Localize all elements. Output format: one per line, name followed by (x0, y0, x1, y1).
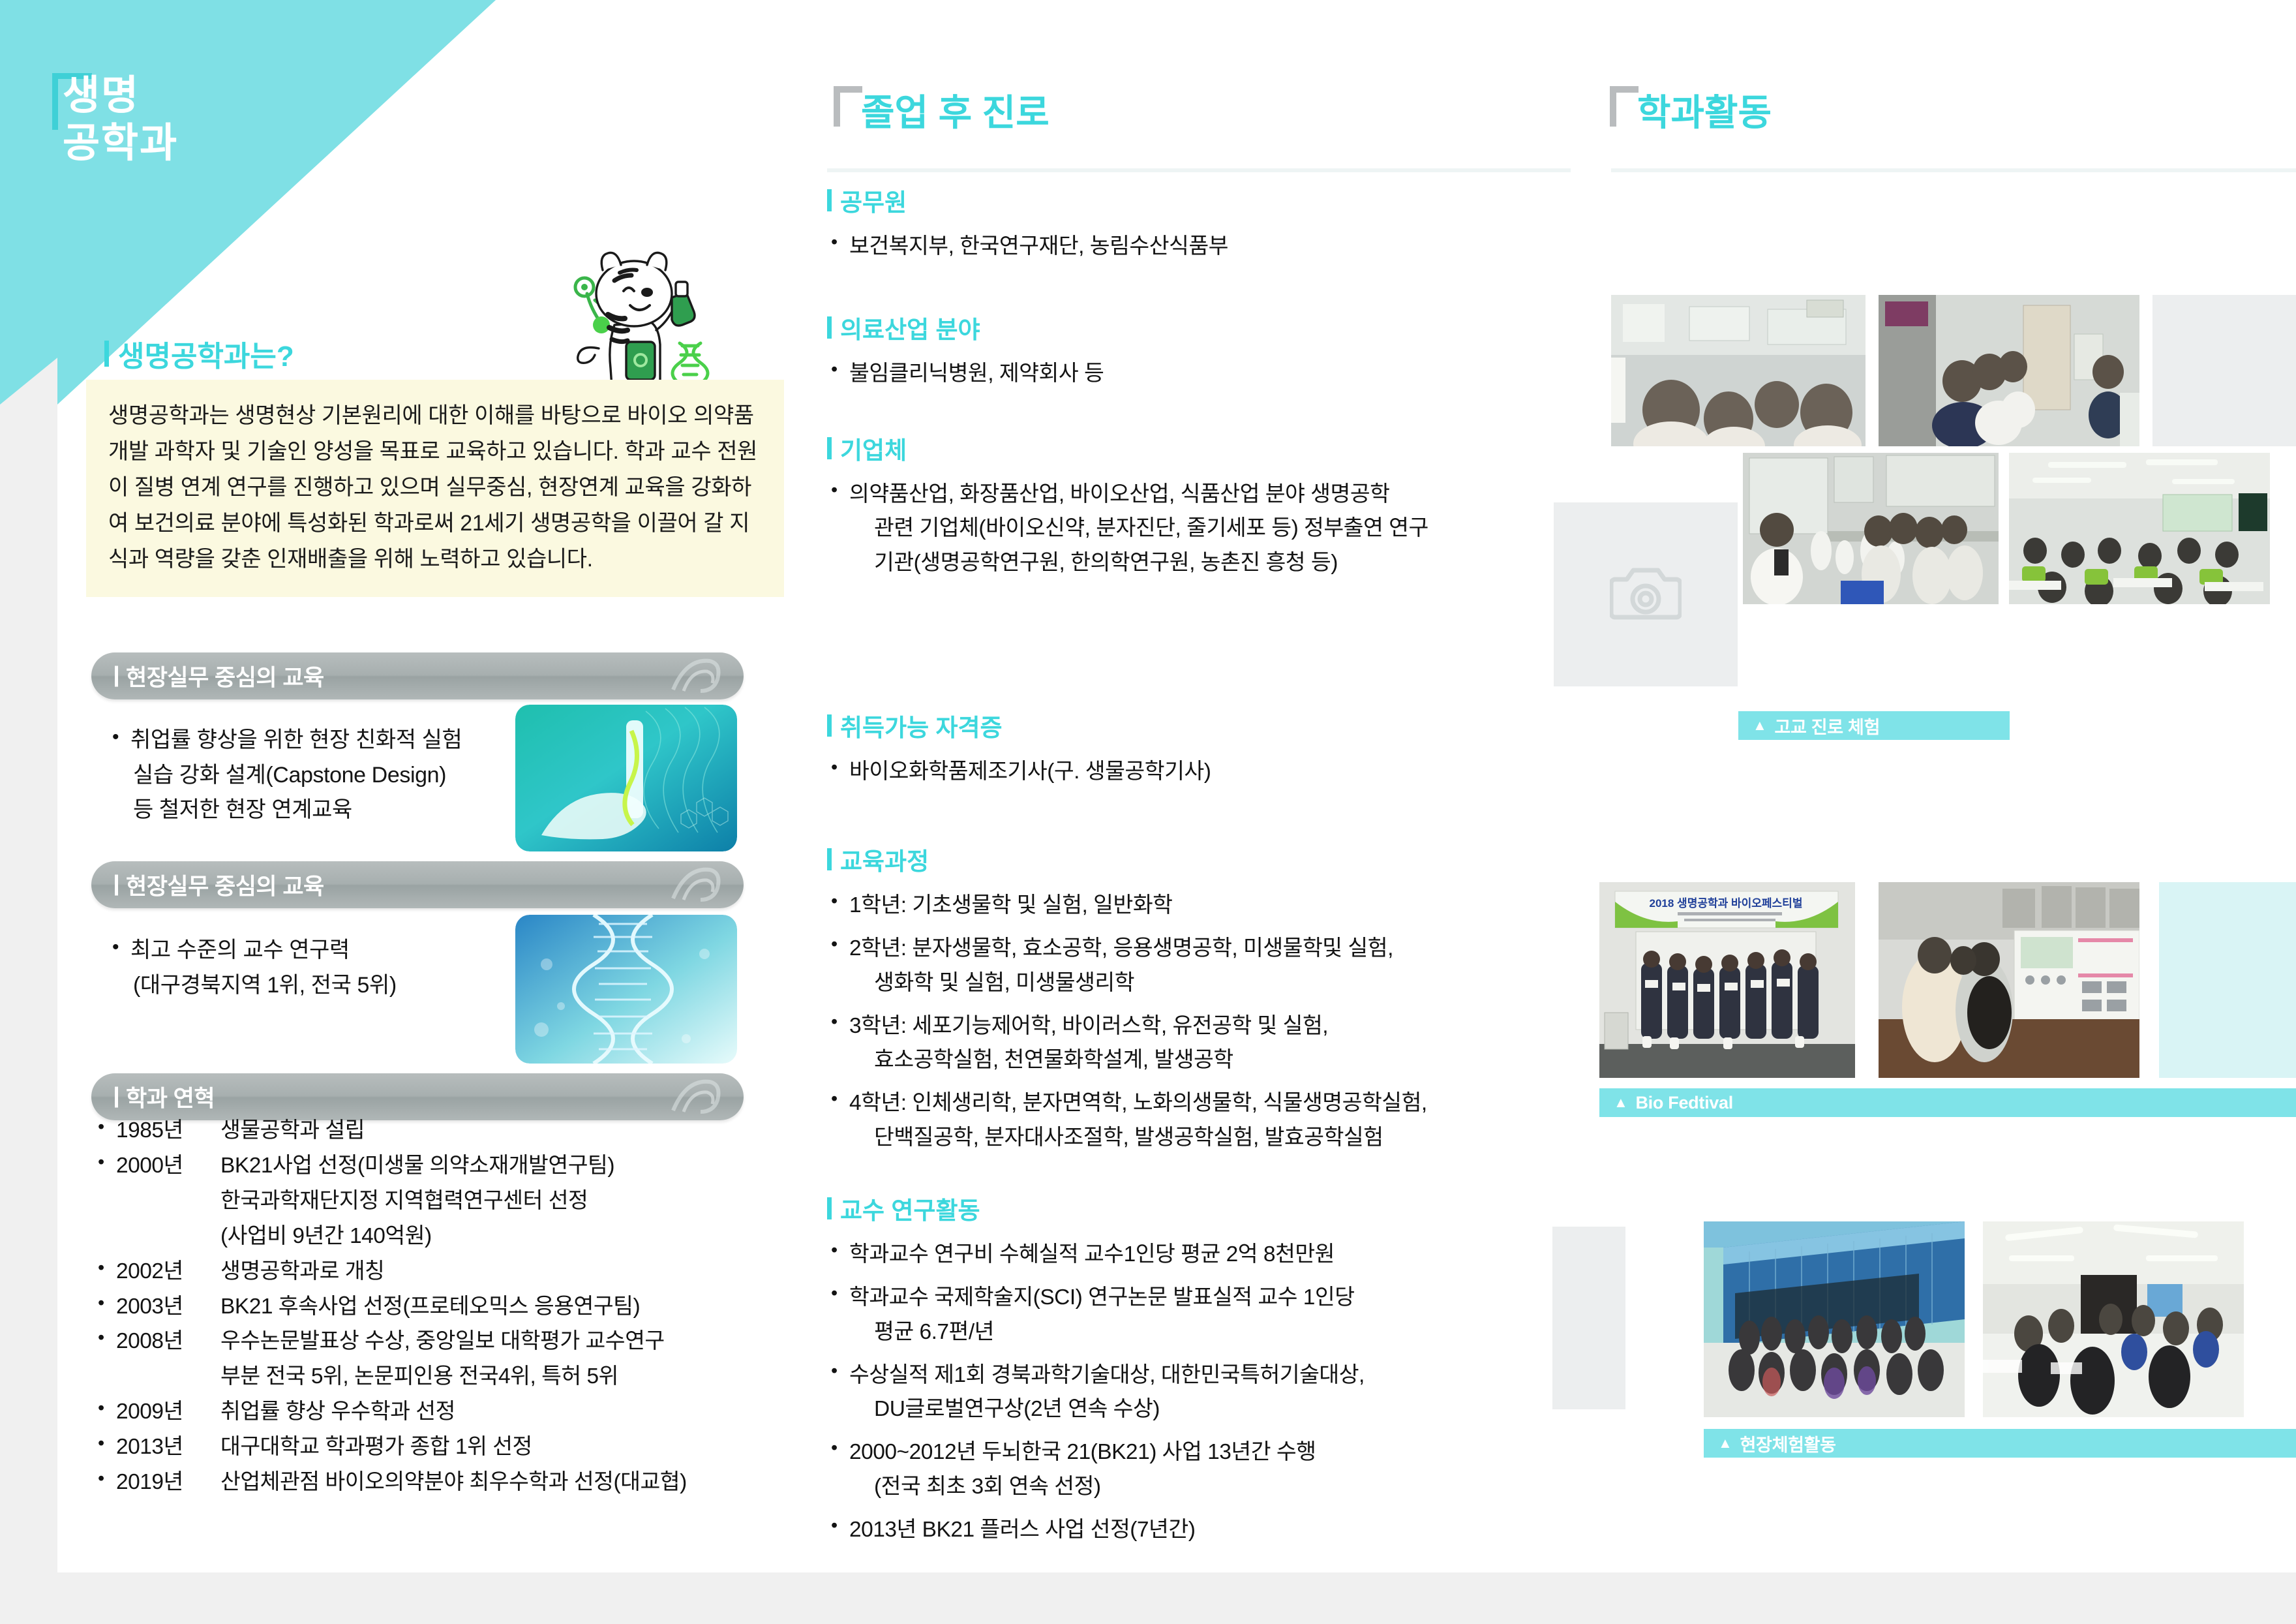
career-item-line: 3학년: 세포기능제어학, 바이러스학, 유전공학 및 실험, (849, 1014, 1328, 1038)
career-item-line: 2000~2012년 두뇌한국 21(BK21) 사업 13년간 수행 (849, 1440, 1316, 1464)
feature2-thumbnail (515, 915, 737, 1064)
history-subrow: (사업비 9년간 140억원) (97, 1220, 781, 1253)
feature1-pill-header: 현장실무 중심의 교육 (91, 652, 744, 699)
history-row: 2003년BK21 후속사업 선정(프로테오믹스 응용연구팀) (97, 1291, 781, 1324)
career-item: 수상실적 제1회 경북과학기술대상, 대한민국특허기술대상,DU글로벌연구상(2… (827, 1358, 1571, 1427)
history-text: 산업체관점 바이오의약분야 최우수학과 선정(대교협) (220, 1470, 687, 1494)
career-section-label: 졸업 후 진로 (861, 92, 1050, 133)
feature1-thumbnail (515, 705, 737, 851)
career-group: 기업체의약품산업, 화장품산업, 바이오산업, 식품산업 분야 생명공학관련 기… (827, 431, 1571, 580)
career-item-cont: 단백질공학, 분자대사조절학, 발생공학실험, 발효공학실험 (849, 1121, 1571, 1155)
career-group-label: 공무원 (827, 183, 1571, 218)
career-item-line: 학과교수 연구비 수혜실적 교수1인당 평균 2억 8천만원 (849, 1242, 1335, 1266)
history-subtext: (사업비 9년간 140억원) (97, 1224, 432, 1248)
career-section-heading: 졸업 후 진로 (861, 84, 1050, 136)
gallery1-caption-label: 고교 진로 체험 (1774, 713, 1880, 739)
feature2-pill-header: 현장실무 중심의 교육 (91, 861, 744, 908)
feature2-line2: (대구경북지역 1위, 전국 5위) (130, 968, 567, 1004)
swirl-decoration-icon (667, 657, 721, 695)
gallery1-filler-block (2152, 295, 2296, 446)
career-item: 보건복지부, 한국연구재단, 농림수산식품부 (827, 230, 1571, 264)
career-group-label: 의료산업 분야 (827, 310, 1571, 345)
career-item: 학과교수 연구비 수혜실적 교수1인당 평균 2억 8천만원 (827, 1238, 1571, 1272)
history-subrow: 한국과학재단지정 지역협력연구센터 선정 (97, 1185, 781, 1218)
history-year: 2003년 (116, 1291, 220, 1324)
history-subrow: 부분 전국 5위, 논문피인용 전국4위, 특허 5위 (97, 1360, 781, 1394)
career-group: 취득가능 자격증바이오화학품제조기사(구. 생물공학기사) (827, 708, 1571, 789)
feature2-line1: 최고 수준의 교수 연구력 (130, 938, 350, 962)
gallery2-caption: ▲ Bio Fedtival (1599, 1088, 2296, 1117)
career-group-label: 교육과정 (827, 842, 1571, 877)
feature1-line3: 등 철저한 현장 연계교육 (130, 793, 567, 828)
feature2-bullet: 최고 수준의 교수 연구력 (대구경북지역 1위, 전국 5위) (111, 933, 567, 1003)
career-item-cont: (전국 최초 3회 연속 선정) (849, 1470, 1571, 1504)
activity-section-label: 학과활동 (1637, 92, 1772, 133)
career-item: 4학년: 인체생리학, 분자면역학, 노화의생물학, 식물생명공학실험,단백질공… (827, 1086, 1571, 1155)
history-text: 생물공학과 설립 (220, 1118, 365, 1142)
career-group: 교수 연구활동학과교수 연구비 수혜실적 교수1인당 평균 2억 8천만원학과교… (827, 1191, 1571, 1547)
gallery1-caption: ▲ 고교 진로 체험 (1738, 711, 2010, 740)
career-item: 1학년: 기초생물학 및 실험, 일반화학 (827, 889, 1571, 923)
activity-corner-bracket-icon (1610, 86, 1639, 127)
career-item-cont: 생화학 및 실험, 미생물생리학 (849, 966, 1571, 1000)
intro-heading: 생명공학과는? (104, 333, 294, 375)
career-group-label: 교수 연구활동 (827, 1191, 1571, 1226)
career-group-label: 기업체 (827, 431, 1571, 466)
gallery2-photo-2 (1879, 882, 2139, 1078)
career-item-line: 2013년 BK21 플러스 사업 선정(7년간) (849, 1518, 1195, 1542)
swirl-decoration-icon (667, 866, 721, 904)
career-group: 의료산업 분야불임클리닉병원, 제약회사 등 (827, 310, 1571, 391)
gallery3-caption-label: 현장체험활동 (1740, 1431, 1835, 1456)
history-pill-label: 학과 연혁 (115, 1080, 215, 1114)
career-item: 2학년: 분자생물학, 효소공학, 응용생명공학, 미생물학및 실험,생화학 및… (827, 932, 1571, 1000)
caption-triangle-icon: ▲ (1718, 1436, 1732, 1450)
gallery1-photo-3 (1743, 453, 1999, 604)
gallery2-photo-1: 2018 생명공학과 바이오페스티벌 (1599, 882, 1855, 1078)
history-year: 2008년 (116, 1325, 220, 1358)
career-item: 2013년 BK21 플러스 사업 선정(7년간) (827, 1513, 1571, 1547)
history-row: 2009년취업률 향상 우수학과 선정 (97, 1396, 781, 1429)
career-item-cont: 관련 기업체(바이오신약, 분자진단, 줄기세포 등) 정부출연 연구 (849, 512, 1571, 545)
gallery2-filler-block (2159, 882, 2296, 1078)
history-text: 취업률 향상 우수학과 선정 (220, 1400, 455, 1424)
career-item-cont: 기관(생명공학연구원, 한의학연구원, 농촌진 흥청 등) (849, 546, 1571, 580)
history-row: 2008년우수논문발표상 수상, 중앙일보 대학평가 교수연구 (97, 1325, 781, 1358)
history-year: 2019년 (116, 1466, 220, 1499)
caption-triangle-icon: ▲ (1753, 718, 1766, 733)
career-item-line: 수상실적 제1회 경북과학기술대상, 대한민국특허기술대상, (849, 1363, 1365, 1387)
history-row: 1985년생물공학과 설립 (97, 1114, 781, 1148)
career-item: 바이오화학품제조기사(구. 생물공학기사) (827, 755, 1571, 789)
history-row: 2002년생명공학과로 개칭 (97, 1255, 781, 1289)
activity-section-heading: 학과활동 (1637, 84, 1772, 136)
history-text: BK21 후속사업 선정(프로테오믹스 응용연구팀) (220, 1295, 640, 1319)
career-item-line: 보건복지부, 한국연구재단, 농림수산식품부 (849, 234, 1228, 258)
history-subtext: 부분 전국 5위, 논문피인용 전국4위, 특허 5위 (97, 1364, 618, 1388)
history-year: 2009년 (116, 1396, 220, 1429)
career-item: 불임클리닉병원, 제약회사 등 (827, 357, 1571, 391)
history-year: 2000년 (116, 1150, 220, 1183)
history-year: 1985년 (116, 1114, 220, 1148)
history-pill-header: 학과 연혁 (91, 1073, 744, 1120)
gallery2-caption-label: Bio Fedtival (1635, 1093, 1732, 1113)
history-text: BK21사업 선정(미생물 의약소재개발연구팀) (220, 1154, 614, 1178)
history-row: 2000년BK21사업 선정(미생물 의약소재개발연구팀) (97, 1150, 781, 1183)
intro-text-box: 생명공학과는 생명현상 기본원리에 대한 이해를 바탕으로 바이오 의약품 개발… (86, 380, 784, 597)
career-group: 교육과정1학년: 기초생물학 및 실험, 일반화학2학년: 분자생물학, 효소공… (827, 842, 1571, 1155)
career-group: 공무원보건복지부, 한국연구재단, 농림수산식품부 (827, 183, 1571, 264)
camera-icon (1610, 562, 1682, 622)
career-item-line: 바이오화학품제조기사(구. 생물공학기사) (849, 759, 1211, 784)
feature1-bullet: 취업률 향상을 위한 현장 친화적 실험 실습 강화 설계(Capstone D… (111, 723, 567, 828)
career-item-cont: 평균 6.7편/년 (849, 1315, 1571, 1349)
gallery3-photo-2 (1983, 1221, 2244, 1417)
career-item-line: 1학년: 기초생물학 및 실험, 일반화학 (849, 893, 1172, 917)
intro-paragraph: 생명공학과는 생명현상 기본원리에 대한 이해를 바탕으로 바이오 의약품 개발… (108, 398, 762, 577)
gallery1-photo-1 (1611, 295, 1865, 446)
career-item-line: 의약품산업, 화장품산업, 바이오산업, 식품산업 분야 생명공학 (849, 482, 1389, 506)
feature1-bullets: 취업률 향상을 위한 현장 친화적 실험 실습 강화 설계(Capstone D… (111, 723, 567, 831)
feature1-line1: 취업률 향상을 위한 현장 친화적 실험 (130, 728, 462, 752)
career-item-line: 학과교수 국제학술지(SCI) 연구논문 발표실적 교수 1인당 (849, 1285, 1355, 1310)
career-item: 3학년: 세포기능제어학, 바이러스학, 유전공학 및 실험,효소공학실험, 천… (827, 1009, 1571, 1078)
history-list: 1985년생물공학과 설립2000년BK21사업 선정(미생물 의약소재개발연구… (97, 1114, 781, 1501)
career-item: 학과교수 국제학술지(SCI) 연구논문 발표실적 교수 1인당평균 6.7편/… (827, 1281, 1571, 1349)
history-row: 2013년대구대학교 학과평가 종합 1위 선정 (97, 1431, 781, 1464)
page-title-line2: 공학과 (63, 119, 178, 167)
career-item-line: 4학년: 인체생리학, 분자면역학, 노화의생물학, 식물생명공학실험, (849, 1091, 1427, 1115)
career-header-rule (827, 168, 1571, 172)
career-corner-bracket-icon (834, 86, 862, 127)
intro-heading-label: 생명공학과는? (118, 333, 294, 375)
career-item-cont: DU글로벌연구상(2년 연속 수상) (849, 1392, 1571, 1426)
history-text: 대구대학교 학과평가 종합 1위 선정 (220, 1435, 532, 1459)
page-title: 생명 공학과 (63, 72, 178, 167)
feature2-pill-label: 현장실무 중심의 교육 (115, 868, 324, 902)
gallery3-photo-1 (1704, 1221, 1965, 1417)
swirl-decoration-icon (667, 1078, 721, 1116)
gallery2-banner-text: 2018 생명공학과 바이오페스티벌 (1650, 897, 1803, 910)
history-year: 2013년 (116, 1431, 220, 1464)
history-year: 2002년 (116, 1255, 220, 1289)
career-group-label: 취득가능 자격증 (827, 708, 1571, 743)
history-row: 2019년산업체관점 바이오의약분야 최우수학과 선정(대교협) (97, 1466, 781, 1499)
feature2-bullets: 최고 수준의 교수 연구력 (대구경북지역 1위, 전국 5위) (111, 933, 567, 1005)
career-item: 의약품산업, 화장품산업, 바이오산업, 식품산업 분야 생명공학관련 기업체(… (827, 478, 1571, 580)
career-item: 2000~2012년 두뇌한국 21(BK21) 사업 13년간 수행(전국 최… (827, 1435, 1571, 1504)
gallery1-photo-4 (2009, 453, 2270, 604)
career-item-line: 2학년: 분자생물학, 효소공학, 응용생명공학, 미생물학및 실험, (849, 936, 1393, 960)
history-text: 생명공학과로 개칭 (220, 1259, 384, 1283)
gallery3-filler-block (1552, 1227, 1625, 1409)
brochure-page: 생명 공학과 (0, 0, 2296, 1624)
activity-header-rule (1611, 168, 2296, 172)
gallery1-photo-2 (1879, 295, 2139, 446)
feature1-line2: 실습 강화 설계(Capstone Design) (130, 758, 567, 793)
gallery3-caption: ▲ 현장체험활동 (1704, 1429, 2296, 1458)
page-title-line1: 생명 (63, 72, 178, 119)
caption-triangle-icon: ▲ (1614, 1095, 1627, 1110)
career-item-line: 불임클리닉병원, 제약회사 등 (849, 361, 1104, 386)
feature1-pill-label: 현장실무 중심의 교육 (115, 660, 324, 693)
history-subtext: 한국과학재단지정 지역협력연구센터 선정 (97, 1189, 588, 1213)
history-text: 우수논문발표상 수상, 중앙일보 대학평가 교수연구 (220, 1329, 665, 1353)
career-item-cont: 효소공학실험, 천연물화학설계, 발생공학 (849, 1043, 1571, 1077)
